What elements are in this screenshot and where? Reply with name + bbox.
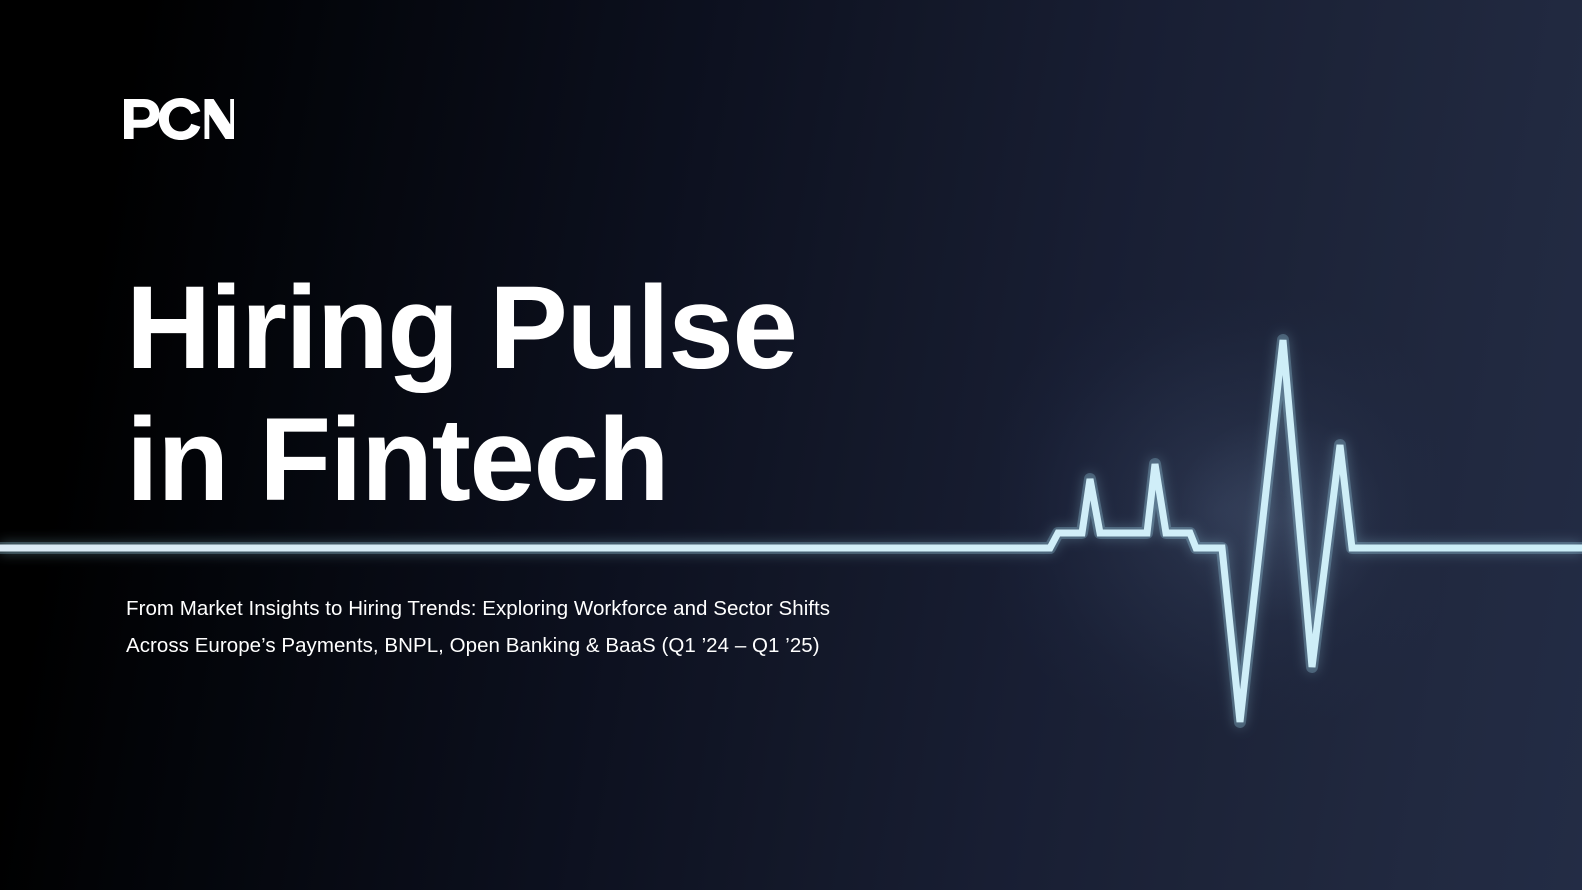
page-title: Hiring Pulse in Fintech bbox=[126, 262, 886, 526]
title-line-2: in Fintech bbox=[126, 394, 886, 526]
page-subtitle: From Market Insights to Hiring Trends: E… bbox=[126, 590, 1006, 664]
presentation-slide: Hiring Pulse in Fintech bbox=[0, 0, 1582, 890]
pcn-logo bbox=[124, 98, 234, 140]
subtitle-line-1: From Market Insights to Hiring Trends: E… bbox=[126, 590, 1006, 627]
title-line-1: Hiring Pulse bbox=[126, 262, 886, 394]
pcn-wordmark-icon bbox=[124, 98, 234, 140]
subtitle-line-2: Across Europe’s Payments, BNPL, Open Ban… bbox=[126, 627, 1006, 664]
